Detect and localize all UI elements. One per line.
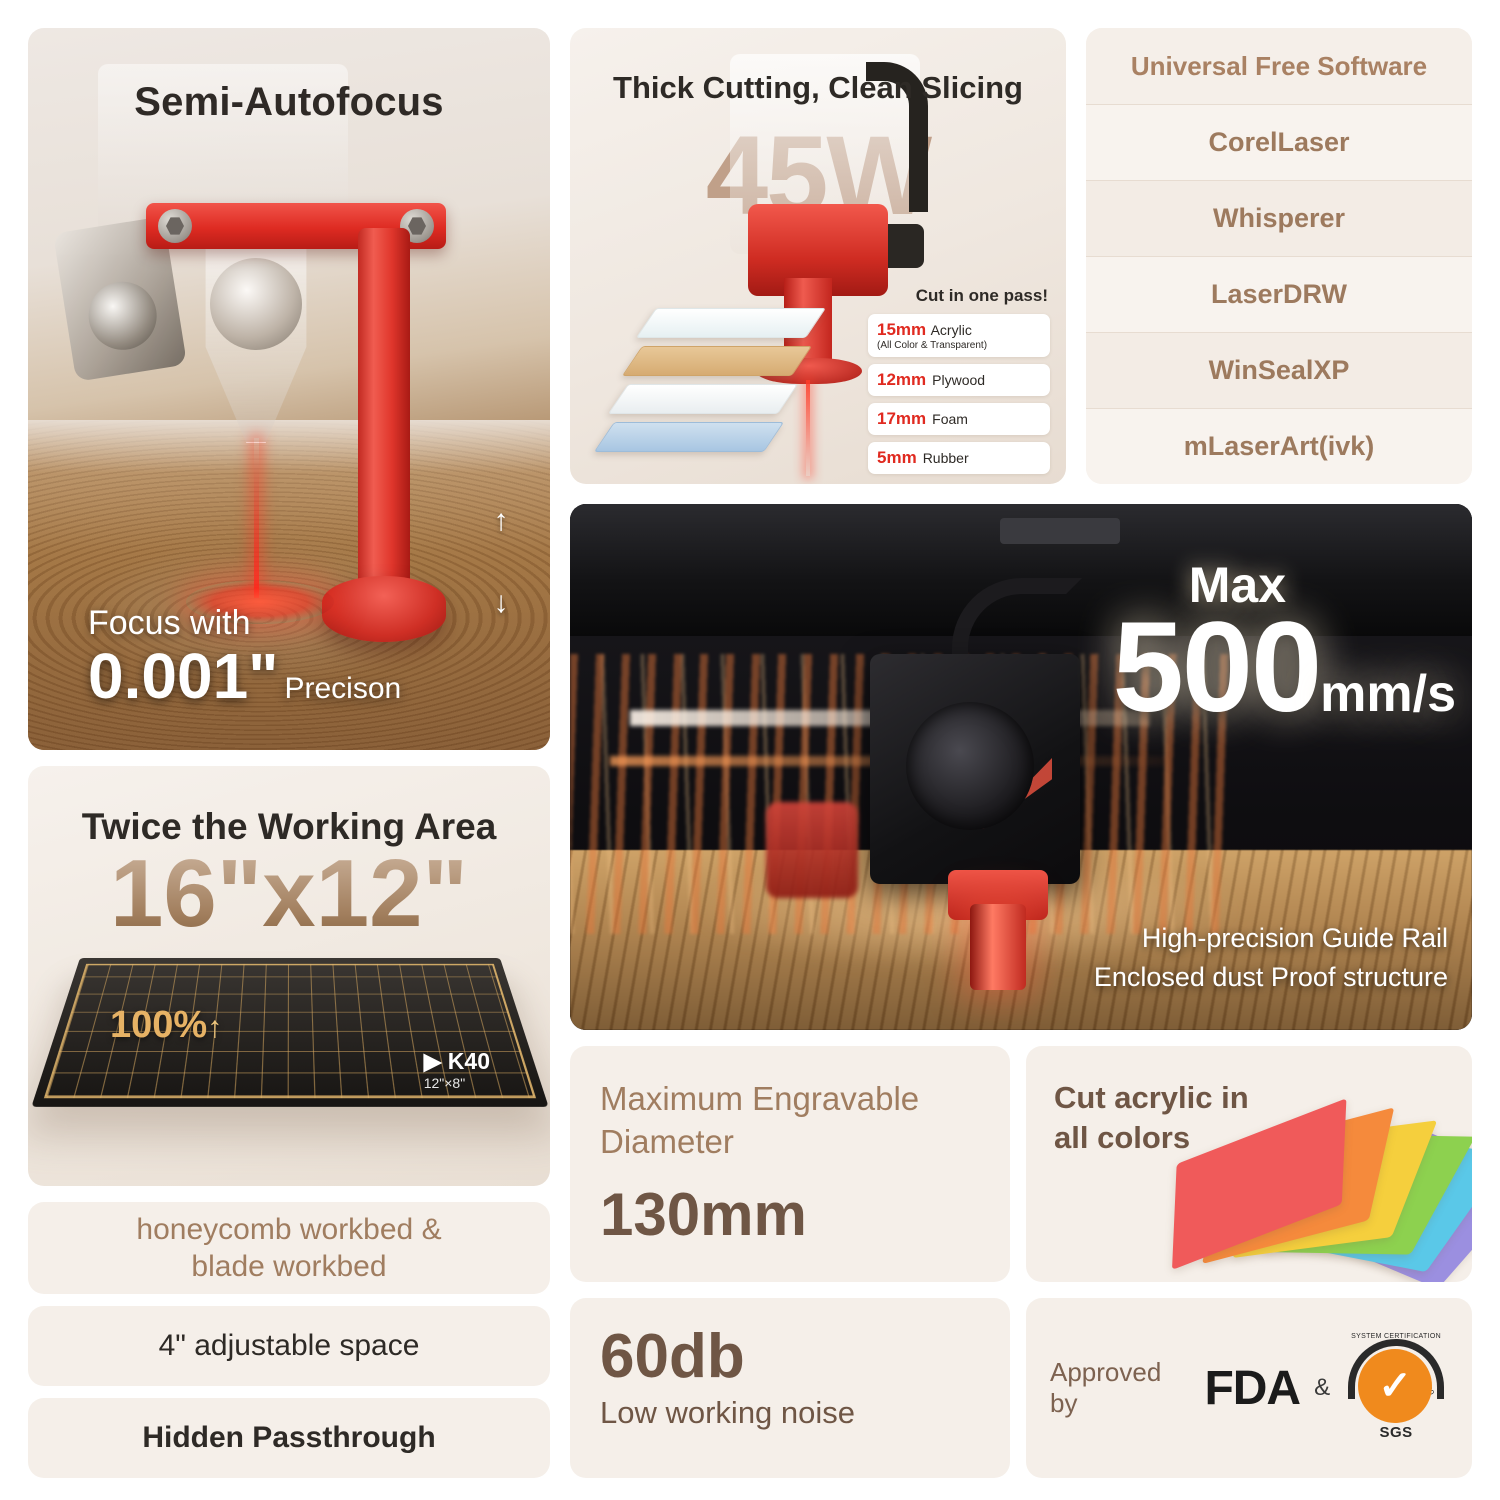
red-knob-blur-graphic [766,802,858,898]
increase-badge: 100%↑ [110,1004,222,1047]
infographic-page: ↑ ↓ Semi-Autofocus Focus with 0.001"Prec… [0,0,1500,1500]
material-thickness: 12mm [877,370,926,390]
speed-unit: mm/s [1320,665,1456,723]
noise-label: Low working noise [600,1395,980,1431]
caption-guide-rail: High-precision Guide Rail [1094,919,1448,957]
software-item-corellaser: CorelLaser [1086,104,1472,180]
fda-logo: FDA [1204,1361,1300,1416]
sgs-text: SGS [1344,1424,1448,1441]
card-workbed-types: honeycomb workbed & blade workbed [28,1202,550,1294]
approved-by-label: Approved by [1050,1357,1190,1419]
card-thick-cutting: 45W Thick Cutting, Clean Slicing Cut in … [570,28,1066,484]
k40-name: K40 [448,1048,490,1074]
autofocus-title: Semi-Autofocus [28,80,550,125]
sgs-logo: SYSTEM CERTIFICATION TL 9000 ✓ SGS [1344,1333,1448,1443]
noise-value: 60db [600,1324,980,1389]
card-universal-free-software: Universal Free Software CorelLaser Whisp… [1086,28,1472,484]
material-name: Rubber [923,450,969,466]
precision-block: Focus with 0.001"Precison [88,604,401,710]
working-area-dimension: 16"x12" [28,846,550,942]
increase-arrow-icon: ↑ [207,1011,222,1044]
diameter-label-line2: Diameter [600,1121,980,1164]
speed-value: 500 [1113,596,1321,739]
red-laser-tube-graphic [970,904,1026,990]
sheet-plywood [622,346,812,376]
card-cut-acrylic-colors: Cut acrylic in all colors [1026,1046,1472,1282]
check-icon: ✓ [1378,1366,1412,1406]
increase-value: 100% [110,1004,207,1046]
focus-with-label: Focus with [88,604,401,643]
material-thickness: 17mm [877,409,926,429]
passthrough-label: Hidden Passthrough [142,1421,435,1455]
software-title: Universal Free Software [1086,28,1472,104]
cutting-title: Thick Cutting, Clean Slicing [570,70,1066,106]
ampersand-label: & [1314,1374,1330,1402]
acrylic-swatch-fan [1152,1086,1472,1282]
speed-caption: High-precision Guide Rail Enclosed dust … [1094,919,1448,996]
software-item-whisperer: Whisperer [1086,180,1472,256]
diameter-label-line1: Maximum Engravable [600,1078,980,1121]
workbed-line2: blade workbed [191,1248,386,1286]
sheet-acrylic [636,308,826,338]
material-name: Plywood [932,372,985,388]
height-adjust-arrows: ↑ ↓ [486,506,516,618]
material-name: Acrylic [931,322,972,338]
k40-comparison: ▶ K40 12"×8" [424,1048,490,1091]
caption-dust-proof: Enclosed dust Proof structure [1094,958,1448,996]
material-name: Foam [932,411,968,427]
hex-bolt-icon [158,209,192,243]
lens-graphic [210,258,302,350]
card-working-area: Twice the Working Area 16"x12" 100%↑ ▶ K… [28,766,550,1186]
material-row: 12mm Plywood [868,364,1050,396]
material-thickness: 15mm [877,320,926,339]
cut-in-one-pass-label: Cut in one pass! [868,286,1048,306]
card-max-engravable-diameter: Maximum Engravable Diameter 130mm [570,1046,1010,1282]
card-low-noise: 60db Low working noise [570,1298,1010,1478]
k40-marker-icon: ▶ [424,1048,442,1074]
software-item-mlaserart: mLaserArt(ivk) [1086,408,1472,484]
adjustable-space-label: 4" adjustable space [159,1329,420,1363]
lens-ring-graphic [906,702,1034,830]
card-adjustable-space: 4" adjustable space [28,1306,550,1386]
material-list: 15mm Acrylic (All Color & Transparent) 1… [868,314,1050,481]
diameter-value: 130mm [600,1180,980,1249]
material-note: (All Color & Transparent) [877,340,1041,351]
material-thickness: 5mm [877,448,917,468]
material-row: 17mm Foam [868,403,1050,435]
card-hidden-passthrough: Hidden Passthrough [28,1398,550,1478]
material-row: 5mm Rubber [868,442,1050,474]
software-item-laserdrw: LaserDRW [1086,256,1472,332]
sgs-check-circle: ✓ [1358,1349,1432,1423]
sheet-rubber [594,422,784,452]
software-item-winsealxp: WinSealXP [1086,332,1472,408]
precision-label: Precison [285,672,402,705]
sheet-foam [608,384,798,414]
material-row: 15mm Acrylic (All Color & Transparent) [868,314,1050,357]
precision-value: 0.001" [88,640,279,712]
laser-beam-graphic [254,438,259,598]
red-post-graphic [358,228,410,598]
card-max-speed: Max 500mm/s High-precision Guide Rail En… [570,504,1472,1030]
card-semi-autofocus: ↑ ↓ Semi-Autofocus Focus with 0.001"Prec… [28,28,550,750]
card-certifications: Approved by FDA & SYSTEM CERTIFICATION T… [1026,1298,1472,1478]
arrow-up-icon: ↑ [494,506,509,536]
workbed-line1: honeycomb workbed & [136,1211,441,1249]
material-sheets-graphic [588,308,838,468]
k40-size: 12"×8" [424,1075,490,1091]
arrow-down-icon: ↓ [494,588,509,618]
